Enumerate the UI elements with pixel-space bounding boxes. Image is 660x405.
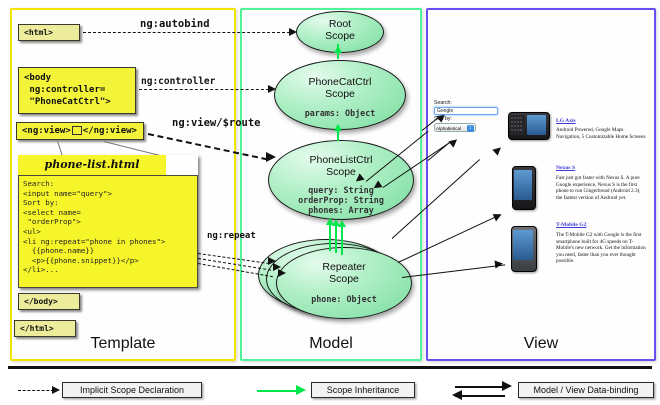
search-input[interactable]: Google	[434, 107, 498, 115]
phone-name-2[interactable]: Nexus S	[556, 165, 575, 171]
scope-phonelistctrl-prop-0: query: String	[269, 185, 413, 195]
scope-root-title-2: Scope	[297, 31, 383, 43]
code-box-ngview: <ng:view></ng:view>	[16, 122, 144, 140]
connector-ng-view-route-arrow	[266, 152, 276, 162]
legend-arrow-databinding-line-bottom	[455, 395, 505, 397]
legend-arrow-databinding-head-left	[452, 390, 462, 400]
note-title: phone-list.html	[18, 155, 166, 175]
scope-root-title-1: Root	[297, 19, 383, 31]
code-box-html-close: </html>	[14, 320, 76, 337]
connector-ng-controller-line	[139, 89, 269, 90]
connector-ng-repeat-label: ng:repeat	[207, 231, 256, 241]
scope-phonecatctrl-title-1: PhoneCatCtrl	[275, 77, 405, 89]
connector-ng-controller-label: ng:controller	[141, 76, 215, 87]
ngview-close-tag: </ng:view>	[83, 126, 137, 136]
scope-repeater: Repeater Scope phone: Object	[276, 247, 412, 319]
ngview-open-tag: <ng:view>	[22, 126, 71, 136]
phone-list-item-2[interactable]	[508, 166, 538, 210]
legend-arrow-databinding-head-right	[502, 381, 512, 391]
connector-ng-view-route-label: ng:view/$route	[172, 117, 261, 129]
inheritance-line-rep-to-list-3	[341, 224, 343, 255]
phone-screen	[514, 170, 532, 200]
phone-snippet-3: The T-Mobile G2 with Google is the first…	[556, 232, 648, 265]
phone-screen	[513, 230, 533, 260]
phone-screen	[527, 115, 546, 135]
scope-phonelistctrl-title-2: Scope	[269, 167, 413, 179]
legend-label-implicit: Implicit Scope Declaration	[62, 382, 202, 398]
databinding-arrow-phone-3	[495, 260, 504, 269]
panel-label-view: View	[428, 335, 654, 353]
inheritance-arrow-cat-to-root	[334, 46, 342, 53]
scope-phonelistctrl-prop-2: phones: Array	[269, 205, 413, 215]
scope-repeater-title-2: Scope	[277, 274, 411, 286]
panel-label-model: Model	[242, 335, 420, 353]
sort-select[interactable]: Alphabetical	[434, 123, 476, 132]
phone-image-lg-axis	[506, 106, 548, 152]
scope-phonecatctrl: PhoneCatCtrl Scope params: Object	[274, 60, 406, 130]
ngview-placeholder-icon	[72, 126, 82, 135]
sort-select-value: Alphabetical	[436, 126, 461, 131]
phone-list-item-3[interactable]	[508, 226, 538, 272]
note-code: Search: <input name="query"> Sort by: <s…	[18, 175, 198, 288]
phone-list-item-1[interactable]	[506, 106, 548, 152]
code-body-text: <body ng:controller= "PhoneCatCtrl">	[24, 73, 111, 107]
phone-image-nexus-s	[508, 166, 538, 210]
view-search-label: Search:	[434, 100, 500, 107]
panel-label-template: Template	[12, 335, 234, 353]
phone-snippet-2: Fast just got faster with Nexus S. A pur…	[556, 175, 648, 201]
view-sort-label: Sort by:	[434, 116, 500, 123]
connector-ng-autobind-label: ng:autobind	[140, 18, 210, 30]
code-box-body-close: </body>	[18, 293, 80, 310]
code-box-html-open: <html>	[18, 24, 80, 41]
inheritance-arrow-list-to-cat	[334, 124, 342, 131]
phone-name-3[interactable]: T-Mobile G2	[556, 222, 586, 228]
inheritance-arrow-rep-to-list-3	[338, 220, 346, 227]
legend-label-inheritance: Scope Inheritance	[311, 382, 415, 398]
phone-snippet-1: Android Powered, Google Maps Navigation,…	[556, 127, 648, 140]
chevron-updown-icon	[467, 125, 474, 132]
inheritance-line-rep-to-list-1	[329, 224, 331, 251]
legend-arrow-databinding-line-top	[455, 386, 505, 388]
inheritance-line-rep-to-list-2	[335, 224, 337, 253]
connector-ng-autobind-arrow	[289, 28, 297, 36]
diagram-canvas: Template Model View <html> <body ng:cont…	[0, 0, 660, 405]
scope-repeater-prop-0: phone: Object	[277, 294, 411, 304]
phone-keyboard	[510, 115, 525, 135]
connector-ng-autobind-line	[83, 32, 290, 33]
connector-ng-repeat-arrow-3	[278, 269, 286, 277]
scope-repeater-title-1: Repeater	[277, 262, 411, 274]
scope-phonecatctrl-prop-0: params: Object	[275, 108, 405, 118]
view-search-form: Search: Google Sort by: Alphabetical	[434, 100, 500, 132]
code-box-body-open: <body ng:controller= "PhoneCatCtrl">	[18, 67, 136, 114]
legend-arrow-inheritance-head	[296, 385, 306, 395]
scope-phonelistctrl-prop-1: orderProp: String	[269, 195, 413, 205]
legend-arrow-inheritance-line	[257, 390, 299, 392]
legend-arrow-implicit-head	[52, 386, 60, 394]
legend-label-databinding: Model / View Data-binding	[518, 382, 654, 398]
template-file-note: phone-list.html Search: <input name="que…	[18, 155, 198, 288]
legend-arrow-implicit-line	[18, 390, 54, 391]
legend-divider	[8, 366, 652, 369]
scope-phonecatctrl-title-2: Scope	[275, 89, 405, 101]
phone-image-tmobile-g2	[508, 226, 538, 272]
phone-name-1[interactable]: LG Axis	[556, 118, 576, 124]
connector-ng-controller-arrow	[268, 85, 276, 93]
